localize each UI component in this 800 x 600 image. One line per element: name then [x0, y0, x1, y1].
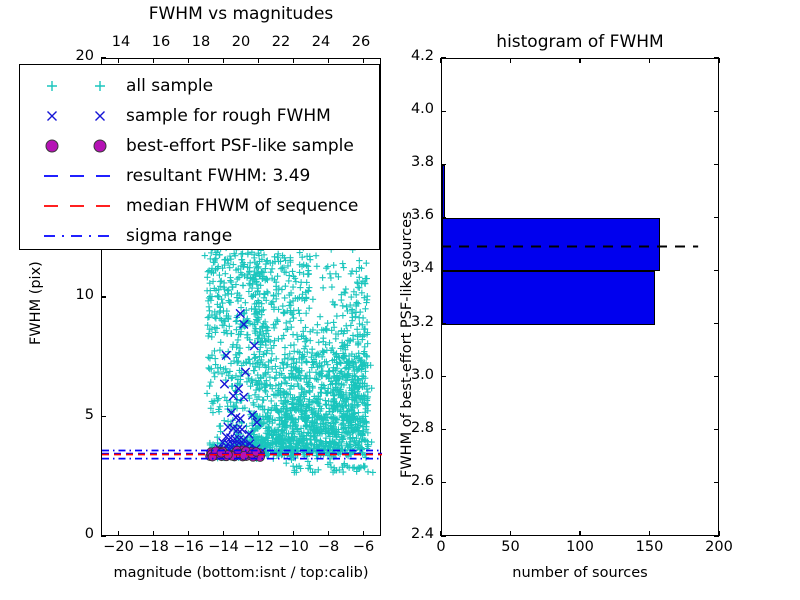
histogram-bars-layer: [442, 59, 718, 535]
hist-xtick-mark: [579, 531, 580, 536]
xtick-label-bottom: −10: [278, 539, 309, 555]
right-panel-ylabel: FWHM of best-effort PSF-like sources: [399, 211, 415, 478]
xtick-mark: [293, 531, 294, 536]
hist-ytick-mark: [441, 217, 446, 218]
hist-ytick-label: 3.4: [411, 260, 434, 276]
hist-ytick-label: 2.6: [411, 473, 434, 489]
legend-item: resultant FWHM: 3.49: [20, 161, 379, 191]
xtick-label-bottom: −20: [103, 539, 134, 555]
plus-marker: [93, 79, 107, 93]
legend-item-label: all sample: [126, 76, 213, 96]
histogram-bar: [442, 218, 660, 271]
ytick-label: 20: [76, 48, 94, 64]
legend-item: sample for rough FWHM: [20, 101, 379, 131]
hist-ytick-label: 4.2: [411, 48, 434, 64]
dot-marker: [46, 140, 59, 153]
legend-item: all sample: [20, 71, 379, 101]
xtick-label-top: 16: [152, 34, 170, 50]
right-panel-title: histogram of FWHM: [496, 32, 663, 52]
legend-item: median FHWM of sequence: [20, 191, 379, 221]
ytick-mark: [101, 296, 106, 297]
hist-xtick-mark-top: [510, 58, 511, 63]
dashed-line: [42, 171, 112, 181]
xtick-mark: [258, 531, 259, 536]
xtick-mark-top-frame: [363, 58, 364, 63]
xtick-label-top: 14: [112, 34, 130, 50]
dashdot-line: [42, 231, 112, 241]
plus-marker: [45, 79, 59, 93]
hist-xtick-label: 0: [436, 539, 445, 555]
hist-ytick-mark-r: [714, 270, 719, 271]
legend-item-label: best-effort PSF-like sample: [126, 136, 354, 156]
hist-xtick-mark-top: [440, 58, 441, 63]
left-panel-xlabel: magnitude (bottom:isnt / top:calib): [113, 565, 368, 581]
hist-ytick-mark: [441, 57, 446, 58]
legend-box: all samplesample for rough FWHMbest-effo…: [19, 64, 380, 250]
hist-ytick-mark: [441, 429, 446, 430]
xtick-mark-top-frame: [293, 58, 294, 63]
xtick-mark-top-frame: [223, 58, 224, 63]
xtick-label-top: 20: [232, 34, 250, 50]
hist-ytick-label: 3.2: [411, 314, 434, 330]
hist-ytick-label: 2.4: [411, 526, 434, 542]
xtick-mark: [223, 531, 224, 536]
hist-xtick-mark-top: [718, 58, 719, 63]
xtick-mark: [118, 531, 119, 536]
xtick-mark-top-frame: [118, 58, 119, 63]
xtick-mark: [328, 531, 329, 536]
legend-item-label: median FHWM of sequence: [126, 196, 358, 216]
cross-marker: [93, 109, 107, 123]
ytick-label: 5: [85, 407, 94, 423]
hist-ytick-mark-r: [714, 429, 719, 430]
legend-item-label: resultant FWHM: 3.49: [126, 166, 310, 186]
hist-ytick-mark: [441, 164, 446, 165]
legend-item-label: sample for rough FWHM: [126, 106, 331, 126]
xtick-label-bottom: −8: [318, 539, 339, 555]
hist-ytick-label: 2.8: [411, 420, 434, 436]
hist-xtick-mark-top: [579, 58, 580, 63]
right-panel-xlabel: number of sources: [512, 565, 648, 581]
hist-ytick-mark-r: [714, 57, 719, 58]
hist-ytick-mark-r: [714, 376, 719, 377]
hist-ytick-mark: [441, 376, 446, 377]
xtick-label-top: 26: [352, 34, 370, 50]
hist-ytick-mark: [441, 482, 446, 483]
hist-ytick-mark: [441, 270, 446, 271]
ytick-mark: [101, 416, 106, 417]
dashed-line: [42, 201, 112, 211]
xtick-mark: [153, 531, 154, 536]
hist-xtick-mark-top: [649, 58, 650, 63]
ytick-label: 0: [85, 526, 94, 542]
xtick-mark: [188, 531, 189, 536]
left-panel-title: FWHM vs magnitudes: [149, 4, 334, 24]
hist-ytick-mark: [441, 111, 446, 112]
histogram-bar: [442, 165, 445, 218]
xtick-label-top: 22: [272, 34, 290, 50]
hist-xtick-label: 50: [501, 539, 519, 555]
xtick-mark-top-frame: [153, 58, 154, 63]
xtick-label-bottom: −16: [173, 539, 204, 555]
xtick-mark: [363, 531, 364, 536]
dot-marker: [94, 140, 107, 153]
xtick-mark-top-frame: [188, 58, 189, 63]
xtick-label-top: 18: [192, 34, 210, 50]
hist-ytick-mark: [441, 535, 446, 536]
hist-xtick-mark: [510, 531, 511, 536]
hist-ytick-mark-r: [714, 482, 719, 483]
hist-ytick-label: 4.0: [411, 101, 434, 117]
ytick-mark: [101, 57, 106, 58]
xtick-mark-top-frame: [328, 58, 329, 63]
left-panel-ylabel: FWHM (pix): [28, 261, 44, 345]
histogram-bar: [442, 271, 655, 324]
hist-xtick-mark: [649, 531, 650, 536]
xtick-label-bottom: −14: [208, 539, 239, 555]
hist-ytick-mark: [441, 323, 446, 324]
hist-xtick-label: 150: [636, 539, 664, 555]
legend-item-label: sigma range: [126, 226, 232, 246]
hist-ytick-label: 3.0: [411, 367, 434, 383]
hist-ytick-mark-r: [714, 535, 719, 536]
xtick-label-bottom: −12: [243, 539, 274, 555]
ytick-mark: [101, 535, 106, 536]
figure-canvas: FWHM vs magnitudes FWHM (pix) magnitude …: [0, 0, 800, 600]
xtick-label-bottom: −18: [138, 539, 169, 555]
legend-item: sigma range: [20, 221, 379, 251]
xtick-label-top: 24: [312, 34, 330, 50]
hist-ytick-mark-r: [714, 217, 719, 218]
xtick-label-bottom: −6: [353, 539, 374, 555]
hist-xtick-label: 200: [705, 539, 733, 555]
cross-marker: [45, 109, 59, 123]
ytick-label: 10: [76, 287, 94, 303]
hist-ytick-mark-r: [714, 323, 719, 324]
hist-ytick-label: 3.6: [411, 207, 434, 223]
hist-ytick-mark-r: [714, 111, 719, 112]
hist-ytick-label: 3.8: [411, 154, 434, 170]
histogram-axes: [441, 58, 719, 536]
legend-item: best-effort PSF-like sample: [20, 131, 379, 161]
xtick-mark-top-frame: [258, 58, 259, 63]
hist-xtick-label: 100: [566, 539, 594, 555]
hist-ytick-mark-r: [714, 164, 719, 165]
